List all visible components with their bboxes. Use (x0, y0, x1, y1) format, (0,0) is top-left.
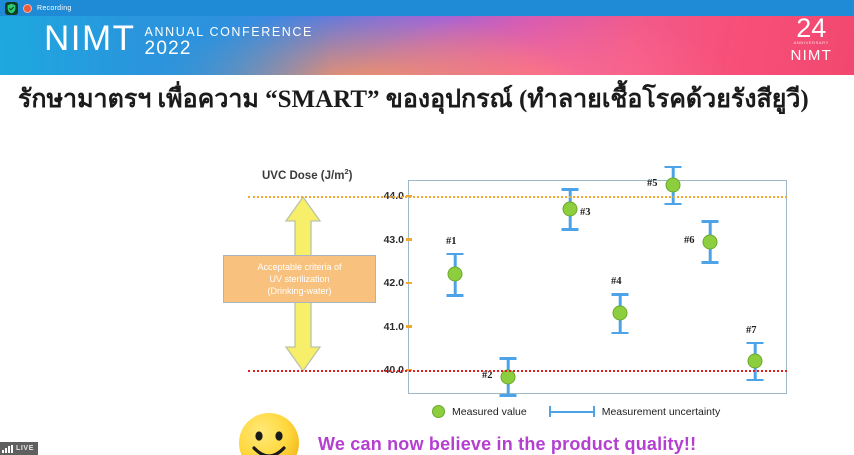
signal-bars-icon (2, 445, 13, 453)
error-bar-cap-top (500, 357, 517, 360)
nimt-logo: NIMT ANNUAL CONFERENCE 2022 (44, 22, 313, 59)
recording-label: Recording (37, 5, 72, 12)
legend-item-uncertainty: Measurement uncertainty (549, 405, 720, 418)
y-axis-tick-mark (406, 325, 412, 327)
error-bar-cap-bottom (562, 228, 579, 231)
error-bar-cap-top (612, 293, 629, 296)
chart-container: UVC Dose (J/m2) 44.043.042.041.040.0 #1#… (0, 155, 854, 455)
error-bar-cap-top (702, 220, 719, 223)
error-bar-cap-bottom (702, 261, 719, 264)
error-bar-cap-bottom (612, 332, 629, 335)
measured-value-marker (613, 306, 628, 321)
legend-label-uncertainty: Measurement uncertainty (602, 406, 720, 418)
recording-status-bar: Recording (0, 0, 854, 16)
measured-value-marker (666, 178, 681, 193)
error-bar-cap-bottom (500, 394, 517, 397)
live-status-badge: LIVE (0, 442, 38, 455)
data-point (661, 162, 685, 209)
data-point (608, 289, 632, 338)
error-bar-cap-bottom (747, 379, 764, 382)
live-label: LIVE (16, 445, 34, 452)
error-bar-cap-top (562, 188, 579, 191)
data-point-label: #1 (446, 236, 457, 247)
anniversary-brand: NIMT (791, 47, 832, 64)
criteria-callout-box: Acceptable criteria of UV sterilization … (223, 255, 376, 303)
y-axis-title: UVC Dose (J/m2) (262, 167, 352, 182)
y-axis-tick-mark (406, 238, 412, 240)
data-point-label: #6 (684, 235, 695, 246)
measured-value-marker (703, 234, 718, 249)
data-point-label: #7 (746, 325, 757, 336)
data-point (496, 353, 520, 400)
reference-line-upper-criteria (248, 196, 787, 198)
anniversary-number: 24 (791, 16, 832, 40)
criteria-line-1: Acceptable criteria of (257, 261, 341, 273)
legend-item-measured-value: Measured value (432, 405, 527, 418)
measured-value-marker (448, 267, 463, 282)
error-bar-cap-bottom (665, 203, 682, 206)
measured-value-marker (748, 354, 763, 369)
anniversary-word: ANNIVERSARY (791, 40, 832, 45)
nimt-brand-text: NIMT (44, 22, 136, 55)
conference-line: ANNUAL CONFERENCE (145, 25, 313, 39)
y-axis-tick-label: 43.0 (368, 234, 404, 246)
tagline-text: We can now believe in the product qualit… (318, 434, 696, 455)
anniversary-logo: 24 ANNIVERSARY NIMT (791, 16, 832, 64)
y-axis-tick-label: 41.0 (368, 321, 404, 333)
error-bar-cap-top (665, 166, 682, 169)
data-point (558, 184, 582, 234)
smiley-face-icon (238, 412, 300, 455)
data-point-label: #3 (580, 207, 591, 218)
slide-screen: Recording NIMT ANNUAL CONFERENCE 2022 24… (0, 0, 854, 455)
chart-legend: Measured value Measurement uncertainty (432, 405, 720, 418)
data-point-label: #4 (611, 276, 622, 287)
error-bar-cap-top (447, 253, 464, 256)
data-point (743, 338, 767, 385)
error-bar-icon (549, 405, 595, 418)
data-point (443, 249, 467, 301)
criteria-line-3: (Drinking-water) (267, 285, 331, 297)
reference-line-lower-criteria (248, 370, 787, 372)
nimt-logo-subtext: ANNUAL CONFERENCE 2022 (145, 22, 313, 59)
green-circle-icon (432, 405, 445, 418)
measured-value-marker (563, 202, 578, 217)
conference-year: 2022 (145, 39, 313, 59)
legend-label-measured-value: Measured value (452, 406, 527, 418)
error-bar-cap-top (747, 342, 764, 345)
slide-title: รักษามาตรฯ เพื่อความ “SMART” ของอุปกรณ์ … (18, 83, 838, 117)
data-point (698, 216, 722, 268)
criteria-line-2: UV sterilization (269, 273, 329, 285)
data-point-label: #5 (647, 178, 658, 189)
record-dot-icon (23, 4, 32, 13)
y-axis-tick-mark (406, 282, 412, 284)
shield-check-icon[interactable] (5, 2, 18, 15)
error-bar-cap-bottom (447, 294, 464, 297)
